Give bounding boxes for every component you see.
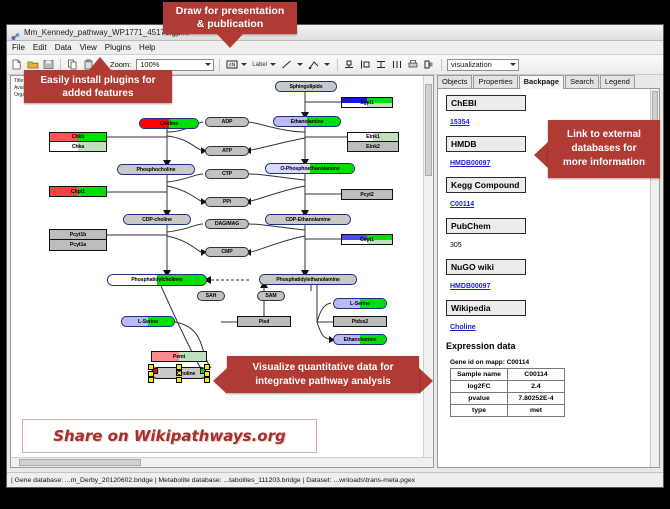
resize-handle-w[interactable] bbox=[148, 371, 154, 377]
menu-item-data[interactable]: Data bbox=[55, 43, 72, 52]
resize-handle-e[interactable] bbox=[204, 371, 210, 377]
toolbar-separator bbox=[337, 59, 338, 71]
db-link-chebi[interactable]: 15354 bbox=[450, 119, 469, 126]
resize-handle-sw[interactable] bbox=[148, 377, 154, 383]
callout-plugins: Easily install plugins for added feature… bbox=[24, 70, 172, 103]
db-name-kegg: Kegg Compound bbox=[446, 177, 526, 193]
visualization-value: visualization bbox=[451, 60, 492, 69]
menu-item-view[interactable]: View bbox=[80, 43, 97, 52]
db-entry-kegg: Kegg Compound C00114 bbox=[446, 177, 650, 211]
toolbar-separator bbox=[60, 59, 61, 71]
node-phosphocholine[interactable]: Phosphocholine bbox=[117, 164, 195, 175]
side-panel-tabs: Objects Properties Backpage Search Legen… bbox=[437, 75, 660, 89]
db-name-pubchem: PubChem bbox=[446, 218, 526, 234]
expression-data-title: Expression data bbox=[446, 341, 650, 351]
node-phosphatidylcholines[interactable]: Phosphatidylcholines bbox=[107, 274, 207, 286]
callout-visualize-arrow-left-icon bbox=[213, 368, 227, 394]
toolbar-separator bbox=[441, 59, 442, 71]
expr-key: Sample name bbox=[451, 369, 508, 381]
expr-value: 2.4 bbox=[508, 381, 565, 393]
distribute-rows-icon[interactable] bbox=[375, 58, 388, 71]
menu-bar: File Edit Data View Plugins Help bbox=[7, 41, 663, 55]
align-left-icon[interactable] bbox=[359, 58, 372, 71]
db-entry-pubchem: PubChem 305 bbox=[446, 218, 650, 252]
expr-value: C00114 bbox=[508, 369, 565, 381]
db-link-kegg[interactable]: C00114 bbox=[450, 201, 474, 208]
node-chka[interactable]: Chka bbox=[49, 142, 107, 152]
callout-visualize: Visualize quantitative data for integrat… bbox=[227, 356, 419, 393]
node-pisd[interactable]: Pisd bbox=[237, 316, 291, 327]
db-link-hmdb[interactable]: HMDB00097 bbox=[450, 160, 490, 167]
node-pcyt2[interactable]: Pcyt2 bbox=[341, 189, 393, 200]
node-o-phosphoethanolamine[interactable]: O-Phosphoethanolamine bbox=[265, 163, 355, 174]
node-sam[interactable]: SAM bbox=[257, 291, 285, 301]
resize-handle-se[interactable] bbox=[204, 377, 210, 383]
callout-link: Link to external databases for more info… bbox=[548, 120, 660, 178]
node-chkb[interactable]: Chkb bbox=[49, 132, 107, 142]
callout-visualize-line2: integrative pathway analysis bbox=[255, 375, 391, 389]
callout-link-line2: databases for bbox=[571, 142, 636, 156]
node-dagmag[interactable]: DAG/MAG bbox=[205, 219, 249, 229]
callout-draw-line2: & publication bbox=[197, 18, 264, 31]
tab-search[interactable]: Search bbox=[565, 75, 599, 88]
scrollbar-thumb[interactable] bbox=[425, 84, 432, 176]
menu-item-plugins[interactable]: Plugins bbox=[105, 43, 131, 52]
node-adp[interactable]: ADP bbox=[205, 117, 249, 127]
db-entry-wikipedia: Wikipedia Choline bbox=[446, 300, 650, 334]
canvas-horizontal-scrollbar[interactable] bbox=[11, 457, 433, 467]
table-row: Sample name C00114 bbox=[451, 369, 565, 381]
status-text: | Gene database: ...m_Derby_20120602.bri… bbox=[11, 477, 415, 484]
screenshot-root: Mm_Kennedy_pathway_WP1771_45176.gpml Fil… bbox=[0, 0, 670, 509]
node-ethanolamine-top[interactable]: Ethanolamine bbox=[273, 116, 341, 127]
line-icon[interactable] bbox=[281, 58, 294, 71]
share-text: Share on Wikipathways.org bbox=[53, 427, 285, 445]
db-name-nugo: NuGO wiki bbox=[446, 259, 526, 275]
tab-backpage[interactable]: Backpage bbox=[519, 75, 564, 89]
node-sphingolipids[interactable]: Sphingolipids bbox=[275, 81, 337, 92]
node-cdp-ethanolamine[interactable]: CDP-Ethanolamine bbox=[265, 214, 351, 225]
zoom-label: Zoom: bbox=[110, 60, 131, 69]
label-dropdown-label[interactable]: Label bbox=[252, 62, 267, 68]
resize-handle-ne[interactable] bbox=[204, 364, 210, 370]
table-row: pvalue 7.80252E-4 bbox=[451, 393, 565, 405]
callout-plugins-line1: Easily install plugins for bbox=[40, 74, 155, 87]
node-pcyt1b[interactable]: Pcyt1b bbox=[49, 229, 107, 240]
node-atp[interactable]: ATP bbox=[205, 146, 249, 156]
node-cept1[interactable]: Cept1 bbox=[341, 234, 393, 245]
callout-link-line1: Link to external bbox=[567, 128, 641, 142]
expression-table: Sample name C00114 log2FC 2.4 pvalue 7.8… bbox=[450, 368, 565, 417]
callout-plugins-arrow-icon bbox=[89, 57, 111, 70]
zoom-value: 100% bbox=[140, 60, 159, 69]
pathway-drawing: Title: Availa Organi bbox=[11, 76, 433, 467]
callout-visualize-arrow-right-icon bbox=[419, 368, 433, 394]
db-entry-nugo: NuGO wiki HMDB00097 bbox=[446, 259, 650, 293]
chevron-down-icon[interactable] bbox=[324, 63, 330, 66]
node-ppi[interactable]: PPi bbox=[205, 197, 249, 207]
db-value-pubchem: 305 bbox=[450, 242, 462, 249]
callout-draw-arrow-icon bbox=[217, 34, 243, 48]
db-name-hmdb: HMDB bbox=[446, 136, 526, 152]
chevron-down-icon[interactable] bbox=[270, 63, 276, 66]
menu-item-help[interactable]: Help bbox=[139, 43, 155, 52]
node-cdp-choline[interactable]: CDP-choline bbox=[123, 214, 191, 225]
node-l-serine-left[interactable]: L-Serine bbox=[121, 316, 175, 327]
pathvisio-icon bbox=[11, 28, 20, 37]
callout-plugins-line2: added features bbox=[62, 87, 133, 100]
node-phosphatidylethanolamine[interactable]: Phosphatidylethanolamine bbox=[259, 274, 357, 285]
tab-legend[interactable]: Legend bbox=[600, 75, 635, 88]
tab-objects[interactable]: Objects bbox=[437, 75, 472, 88]
db-link-wikipedia[interactable]: Choline bbox=[450, 324, 476, 331]
toolbar-separator bbox=[219, 59, 220, 71]
expr-key: pvalue bbox=[451, 393, 508, 405]
chevron-down-icon bbox=[205, 63, 211, 66]
node-pcyt1a[interactable]: Pcyt1a bbox=[49, 240, 107, 251]
node-l-serine-right[interactable]: L-Serine bbox=[333, 298, 387, 309]
node-choline-selected[interactable]: Choline bbox=[151, 367, 207, 379]
new-file-icon[interactable] bbox=[10, 58, 23, 71]
node-pemt[interactable]: Pemt bbox=[151, 351, 207, 362]
print-icon[interactable] bbox=[407, 58, 420, 71]
node-sah[interactable]: SAH bbox=[197, 291, 225, 301]
status-bar: | Gene database: ...m_Derby_20120602.bri… bbox=[7, 472, 663, 487]
tab-properties[interactable]: Properties bbox=[473, 75, 517, 88]
node-choline-top[interactable]: Choline bbox=[139, 118, 199, 129]
node-ctp[interactable]: CTP bbox=[205, 169, 249, 179]
node-etnk1[interactable]: Etnk1 bbox=[347, 132, 399, 142]
resize-handle-n[interactable] bbox=[176, 364, 182, 370]
order-icon[interactable] bbox=[423, 58, 436, 71]
db-name-chebi: ChEBI bbox=[446, 95, 526, 111]
db-link-nugo[interactable]: HMDB00097 bbox=[450, 283, 490, 290]
menu-item-file[interactable]: File bbox=[12, 43, 25, 52]
node-cmp[interactable]: CMP bbox=[205, 247, 249, 257]
svg-text:dN: dN bbox=[228, 63, 235, 69]
align-icon[interactable] bbox=[343, 58, 356, 71]
callout-link-arrow-icon bbox=[534, 142, 548, 168]
node-chpt1[interactable]: Chpt1 bbox=[49, 186, 107, 197]
pathway-canvas[interactable]: Title: Availa Organi bbox=[10, 75, 434, 468]
expr-value: 7.80252E-4 bbox=[508, 393, 565, 405]
callout-draw: Draw for presentation & publication bbox=[163, 2, 297, 34]
canvas-vertical-scrollbar[interactable] bbox=[423, 76, 433, 458]
expr-key: log2FC bbox=[451, 381, 508, 393]
scrollbar-thumb[interactable] bbox=[19, 459, 141, 466]
node-sgpl1[interactable]: Sgpl1 bbox=[341, 97, 393, 108]
zoom-combobox[interactable]: 100% bbox=[136, 59, 214, 71]
table-row: log2FC 2.4 bbox=[451, 381, 565, 393]
node-etnk2[interactable]: Etnk2 bbox=[347, 142, 399, 152]
resize-handle-nw[interactable] bbox=[148, 364, 154, 370]
chevron-down-icon bbox=[510, 63, 516, 66]
db-name-wikipedia: Wikipedia bbox=[446, 300, 526, 316]
node-ethanolamine-bottom[interactable]: Ethanolamine bbox=[333, 334, 387, 345]
resize-handle-s[interactable] bbox=[176, 377, 182, 383]
callout-draw-line1: Draw for presentation bbox=[176, 5, 285, 18]
datanode-icon[interactable]: dN bbox=[225, 58, 238, 71]
menu-item-edit[interactable]: Edit bbox=[33, 43, 47, 52]
gene-id-label: Gene id on mapp: C00114 bbox=[450, 359, 650, 366]
table-row: type met bbox=[451, 405, 565, 417]
callout-link-line3: more information bbox=[563, 156, 645, 170]
expr-key: type bbox=[451, 405, 508, 417]
share-banner: Share on Wikipathways.org bbox=[22, 419, 317, 453]
title-bar: Mm_Kennedy_pathway_WP1771_45176.gpml bbox=[7, 25, 663, 41]
visualization-combobox[interactable]: visualization bbox=[447, 59, 519, 71]
distribute-cols-icon[interactable] bbox=[391, 58, 404, 71]
node-ptdss2[interactable]: Ptdss2 bbox=[333, 316, 387, 327]
expr-value: met bbox=[508, 405, 565, 417]
callout-visualize-line1: Visualize quantitative data for bbox=[253, 361, 394, 375]
chevron-down-icon[interactable] bbox=[241, 63, 247, 66]
chevron-down-icon[interactable] bbox=[297, 63, 303, 66]
interaction-icon[interactable] bbox=[308, 58, 321, 71]
